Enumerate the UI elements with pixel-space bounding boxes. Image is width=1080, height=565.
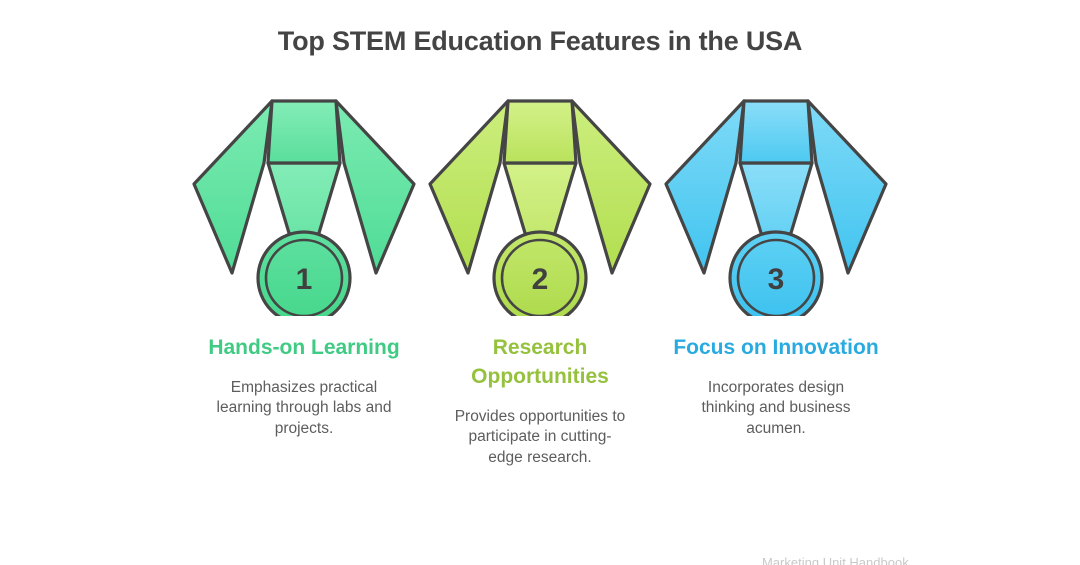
footer-clipped-label: Marketing Unit Handbook (762, 556, 992, 565)
footer-clipped-text: Marketing Unit Handbook (762, 556, 992, 565)
feature-heading-3: Focus on Innovation (671, 334, 881, 363)
infographic-canvas: Top STEM Education Features in the USA (0, 0, 1080, 565)
medal-graphic-3: 3 (658, 88, 894, 316)
medal-icon: 2 (422, 88, 658, 316)
medal-rank-number: 1 (296, 263, 313, 296)
medal-rank-number: 3 (768, 263, 785, 296)
feature-columns: 1 Hands-on Learning Emphasizes practical… (0, 88, 1080, 468)
medal-graphic-2: 2 (422, 88, 658, 316)
feature-heading-1: Hands-on Learning (199, 334, 409, 363)
feature-body-1: Emphasizes practical learning through la… (216, 378, 392, 440)
page-title: Top STEM Education Features in the USA (0, 26, 1080, 57)
medal-rank-number: 2 (532, 263, 549, 296)
medal-icon: 1 (186, 88, 422, 316)
medal-graphic-1: 1 (186, 88, 422, 316)
feature-column-2: 2 Research Opportunities Provides opport… (422, 88, 658, 468)
feature-heading-2: Research Opportunities (435, 334, 645, 392)
feature-body-3: Incorporates design thinking and busines… (688, 378, 864, 440)
feature-column-3: 3 Focus on Innovation Incorporates desig… (658, 88, 894, 440)
feature-body-2: Provides opportunities to participate in… (452, 407, 628, 469)
medal-icon: 3 (658, 88, 894, 316)
feature-column-1: 1 Hands-on Learning Emphasizes practical… (186, 88, 422, 440)
